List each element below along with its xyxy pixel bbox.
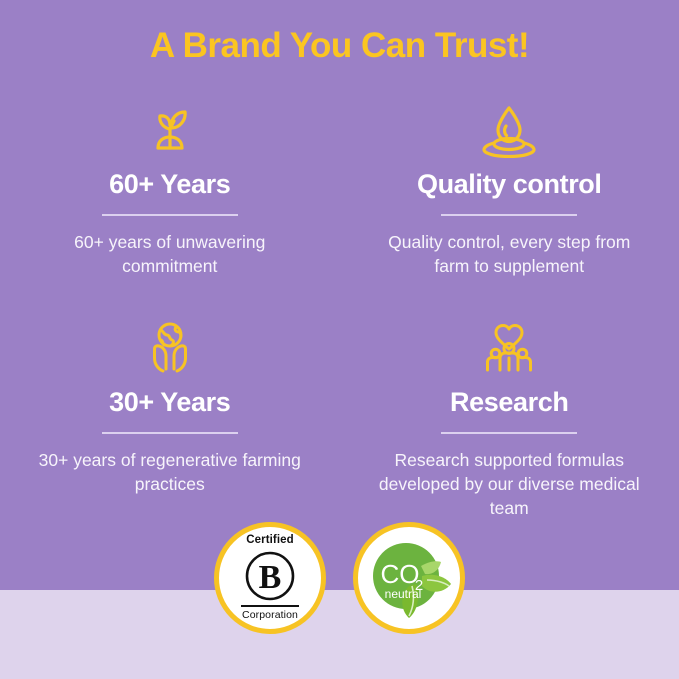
bcorp-rule bbox=[241, 605, 299, 608]
page-title: A Brand You Can Trust! bbox=[0, 26, 679, 66]
feature-divider bbox=[102, 214, 238, 216]
co2-neutral-badge: CO 2 neutral bbox=[353, 522, 465, 634]
feature-body: 60+ years of unwavering commitment bbox=[31, 230, 309, 278]
certification-badges: Certified B Corporation CO bbox=[0, 522, 679, 634]
promo-poster: A Brand You Can Trust! 60+ Years 60+ yea… bbox=[0, 0, 679, 679]
feature-heading: 60+ Years bbox=[109, 170, 230, 200]
bcorp-corporation-label: Corporation bbox=[242, 610, 298, 621]
feature-grid: 60+ Years 60+ years of unwavering commit… bbox=[0, 100, 679, 520]
hands-holding-globe-icon bbox=[142, 318, 198, 376]
feature-body: Research supported formulas developed by… bbox=[373, 448, 645, 520]
feature-row-1: 60+ Years 60+ years of unwavering commit… bbox=[0, 100, 679, 278]
feature-heading: 30+ Years bbox=[109, 388, 230, 418]
svg-text:B: B bbox=[259, 559, 282, 596]
feature-row-2: 30+ Years 30+ years of regenerative farm… bbox=[0, 318, 679, 520]
people-heart-icon bbox=[479, 318, 539, 376]
water-droplet-ripple-icon bbox=[480, 100, 538, 158]
feature-card-research: Research Research supported formulas dev… bbox=[340, 318, 679, 520]
feature-divider bbox=[102, 432, 238, 434]
feature-divider bbox=[441, 432, 577, 434]
feature-divider bbox=[441, 214, 577, 216]
b-corp-certified-badge: Certified B Corporation bbox=[214, 522, 326, 634]
co2-formula: CO bbox=[381, 559, 420, 589]
feature-heading: Quality control bbox=[417, 170, 602, 200]
bcorp-certified-label: Certified bbox=[246, 535, 294, 547]
sprout-seedling-icon bbox=[142, 100, 198, 158]
feature-heading: Research bbox=[450, 388, 568, 418]
feature-card-quality-control: Quality control Quality control, every s… bbox=[340, 100, 679, 278]
feature-card-60-years: 60+ Years 60+ years of unwavering commit… bbox=[0, 100, 340, 278]
feature-body: 30+ years of regenerative farming practi… bbox=[34, 448, 306, 496]
co2-neutral-label: neutral bbox=[385, 587, 422, 601]
co2-neutral-mark: CO 2 neutral bbox=[359, 528, 459, 628]
feature-card-30-years: 30+ Years 30+ years of regenerative farm… bbox=[0, 318, 340, 520]
feature-body: Quality control, every step from farm to… bbox=[370, 230, 648, 278]
bcorp-b-mark: B bbox=[244, 550, 296, 602]
